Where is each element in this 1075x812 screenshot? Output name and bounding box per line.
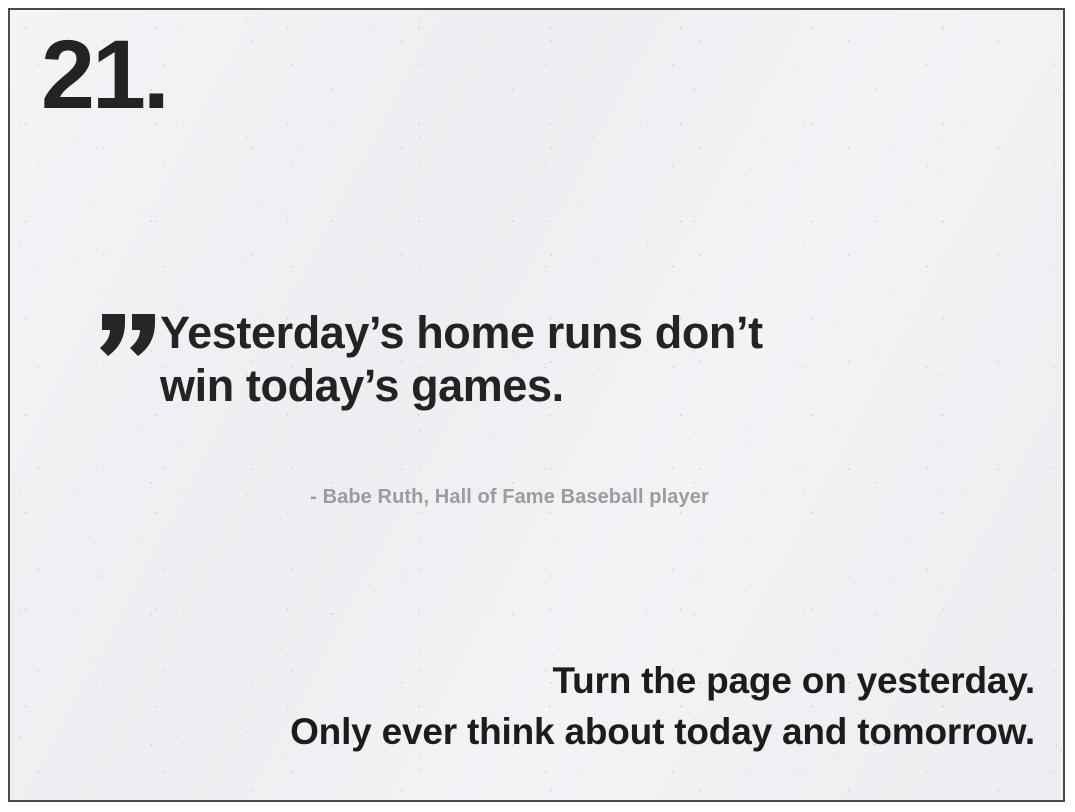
quote-block: Yesterday’s home runs don’t win today’s … bbox=[98, 306, 763, 412]
closing-line-2: Only ever think about today and tomorrow… bbox=[290, 706, 1035, 757]
closing-statement: Turn the page on yesterday. Only ever th… bbox=[290, 655, 1035, 757]
closing-line-1: Turn the page on yesterday. bbox=[290, 655, 1035, 706]
slide-number: 21. bbox=[41, 26, 167, 123]
quote-text: Yesterday’s home runs don’t win today’s … bbox=[160, 306, 763, 412]
slide-canvas: 21. Yesterday’s home runs don’t win toda… bbox=[8, 8, 1065, 802]
quote-attribution: - Babe Ruth, Hall of Fame Baseball playe… bbox=[10, 486, 1063, 509]
open-quote-icon bbox=[98, 312, 160, 362]
